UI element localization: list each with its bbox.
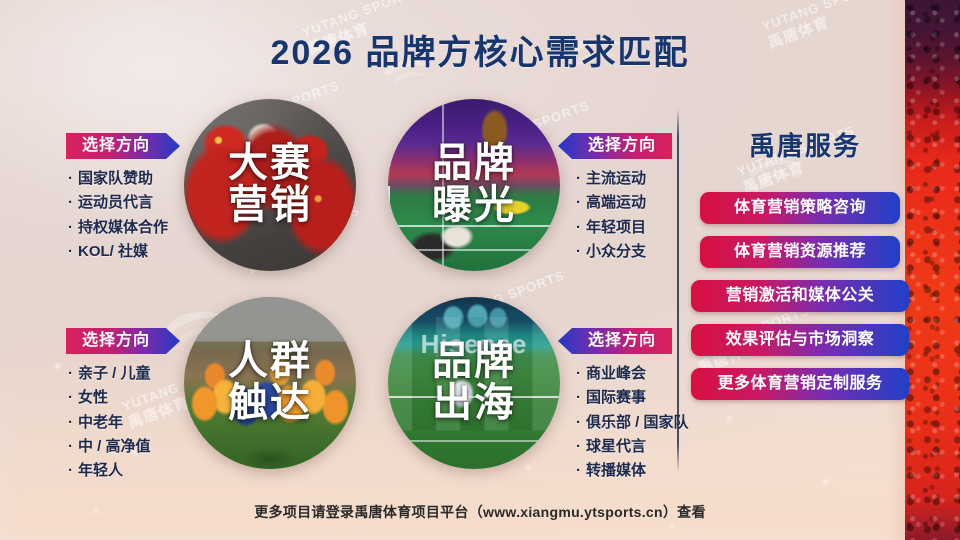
right-red-texture-strip	[905, 0, 960, 540]
direction-item[interactable]: 持权媒体合作	[66, 216, 180, 240]
circle-label-line1: 品牌	[432, 143, 516, 185]
direction-banner[interactable]: 选择方向	[66, 133, 180, 159]
service-pill[interactable]: 体育营销策略咨询	[700, 192, 900, 224]
service-pill[interactable]: 更多体育营销定制服务	[691, 368, 909, 400]
direction-item[interactable]: 转播媒体	[574, 459, 689, 483]
direction-banner[interactable]: 选择方向	[558, 328, 672, 354]
direction-group-globalization: 选择方向 商业峰会 国际赛事 俱乐部 / 国家队 球星代言 转播媒体	[558, 328, 689, 483]
direction-group-audience: 选择方向 亲子 / 儿童 女性 中老年 中 / 高净值 年轻人	[66, 328, 180, 483]
direction-item[interactable]: 球星代言	[574, 435, 689, 459]
panel-divider	[677, 108, 679, 472]
direction-banner[interactable]: 选择方向	[558, 133, 672, 159]
direction-group-exposure: 选择方向 主流运动 高端运动 年轻项目 小众分支	[558, 133, 672, 264]
direction-item-list: 主流运动 高端运动 年轻项目 小众分支	[558, 167, 672, 264]
page-title: 2026 品牌方核心需求匹配	[0, 25, 960, 74]
circle-label-line1: 人群	[228, 341, 312, 383]
circle-label-line2: 出海	[432, 383, 516, 425]
direction-item[interactable]: 中 / 高净值	[66, 435, 180, 459]
circle-label-line2: 曝光	[432, 185, 516, 227]
direction-item[interactable]: 小众分支	[574, 240, 672, 264]
circle-tile-brand-globalization[interactable]: Hisense 品牌 出海	[388, 297, 560, 469]
slide-canvas: YUTANG SPORTS 禹唐体育 YUTANG SPORTS 禹唐体育 YU…	[0, 0, 960, 540]
service-pill[interactable]: 效果评估与市场洞察	[691, 324, 909, 356]
circle-label: 人群 触达	[228, 341, 312, 424]
circle-label-line2: 触达	[228, 383, 312, 425]
direction-item[interactable]: 高端运动	[574, 191, 672, 215]
circle-label-line1: 大赛	[228, 143, 312, 185]
direction-group-competition: 选择方向 国家队赞助 运动员代言 持权媒体合作 KOL/ 社媒	[66, 133, 180, 264]
circle-tile-brand-exposure[interactable]: 品牌 曝光	[388, 99, 560, 271]
circle-tile-audience-reach[interactable]: 人群 触达	[184, 297, 356, 469]
circle-label: 大赛 营销	[228, 143, 312, 226]
direction-item[interactable]: 中老年	[66, 411, 180, 435]
service-pill[interactable]: 体育营销资源推荐	[700, 236, 900, 268]
direction-item[interactable]: 运动员代言	[66, 191, 180, 215]
direction-item-list: 亲子 / 儿童 女性 中老年 中 / 高净值 年轻人	[66, 362, 180, 483]
direction-item[interactable]: 商业峰会	[574, 362, 689, 386]
services-list: 体育营销策略咨询 体育营销资源推荐 营销激活和媒体公关 效果评估与市场洞察 更多…	[700, 192, 900, 412]
direction-item[interactable]: 年轻项目	[574, 216, 672, 240]
footer-note: 更多项目请登录禹唐体育项目平台（www.xiangmu.ytsports.cn）…	[0, 502, 960, 522]
circle-label-line1: 品牌	[432, 341, 516, 383]
direction-item-list: 商业峰会 国际赛事 俱乐部 / 国家队 球星代言 转播媒体	[558, 362, 689, 483]
direction-item[interactable]: 年轻人	[66, 459, 180, 483]
direction-item[interactable]: 国际赛事	[574, 386, 689, 410]
circle-label: 品牌 曝光	[432, 143, 516, 226]
direction-item[interactable]: 俱乐部 / 国家队	[574, 411, 689, 435]
direction-item[interactable]: 亲子 / 儿童	[66, 362, 180, 386]
direction-banner[interactable]: 选择方向	[66, 328, 180, 354]
direction-item[interactable]: KOL/ 社媒	[66, 240, 180, 264]
direction-item[interactable]: 国家队赞助	[66, 167, 180, 191]
circle-tile-competition-marketing[interactable]: 大赛 营销	[184, 99, 356, 271]
services-title: 禹唐服务	[700, 126, 910, 163]
direction-item[interactable]: 女性	[66, 386, 180, 410]
circle-label: 品牌 出海	[432, 341, 516, 424]
direction-item-list: 国家队赞助 运动员代言 持权媒体合作 KOL/ 社媒	[66, 167, 180, 264]
circle-label-line2: 营销	[228, 185, 312, 227]
service-pill[interactable]: 营销激活和媒体公关	[691, 280, 909, 312]
direction-item[interactable]: 主流运动	[574, 167, 672, 191]
